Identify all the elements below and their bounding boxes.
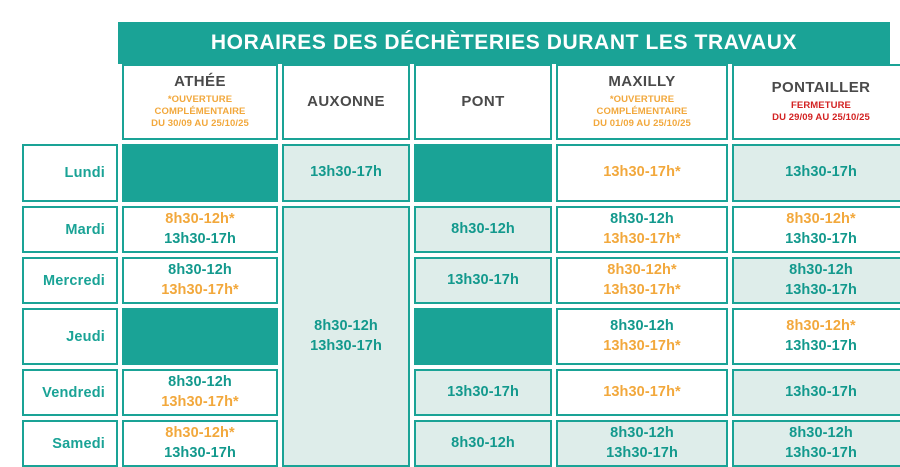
cell-hours: 8h30-12h13h30-17h — [785, 424, 857, 462]
day-label: Mercredi — [43, 273, 105, 289]
note-line: FERMETURE — [772, 100, 870, 112]
hours-line: 13h30-17h — [785, 163, 857, 182]
cell-hours: 8h30-12h*13h30-17h — [785, 210, 857, 248]
cell-pont-mercredi: 13h30-17h — [414, 257, 552, 304]
cell-pontailler-samedi: 8h30-12h13h30-17h — [732, 420, 900, 467]
column-header-name: PONTAILLER — [772, 79, 871, 98]
hours-line: 8h30-12h* — [786, 317, 855, 336]
day-label-cell-mardi: Mardi — [22, 206, 118, 253]
column-header-auxonne: AUXONNE — [282, 64, 410, 140]
note-line: COMPLÉMENTAIRE — [593, 106, 691, 118]
hours-line: 8h30-12h — [789, 261, 853, 280]
hours-line: 13h30-17h* — [161, 281, 239, 300]
hours-line: 13h30-17h — [447, 271, 519, 290]
page-title: HORAIRES DES DÉCHÈTERIES DURANT LES TRAV… — [211, 31, 797, 55]
column-header-athee: ATHÉE*OUVERTURECOMPLÉMENTAIREDU 30/09 AU… — [122, 64, 278, 140]
hours-line: 13h30-17h* — [161, 393, 239, 412]
hours-line: 13h30-17h* — [603, 281, 681, 300]
day-label-cell-samedi: Samedi — [22, 420, 118, 467]
day-label: Jeudi — [66, 329, 105, 345]
note-line: DU 30/09 AU 25/10/25 — [151, 118, 249, 130]
hours-line: 13h30-17h* — [603, 230, 681, 249]
hours-line: 8h30-12h — [610, 317, 674, 336]
cell-hours: 8h30-12h — [451, 434, 515, 453]
cell-hours: 8h30-12h13h30-17h — [606, 424, 678, 462]
hours-line: 8h30-12h* — [165, 424, 234, 443]
note-line: DU 29/09 AU 25/10/25 — [772, 112, 870, 124]
cell-hours: 13h30-17h — [310, 163, 382, 182]
day-label-cell-lundi: Lundi — [22, 144, 118, 202]
hours-line: 13h30-17h — [164, 444, 236, 463]
cell-hours: 13h30-17h — [785, 383, 857, 402]
cell-hours: 13h30-17h — [447, 271, 519, 290]
hours-line: 13h30-17h — [310, 163, 382, 182]
cell-hours: 13h30-17h* — [603, 163, 681, 182]
cell-hours: 8h30-12h*13h30-17h — [785, 317, 857, 355]
column-header-note: FERMETUREDU 29/09 AU 25/10/25 — [772, 100, 870, 124]
hours-line: 13h30-17h* — [603, 163, 681, 182]
cell-maxilly-vendredi: 13h30-17h* — [556, 369, 728, 416]
cell-pontailler-lundi: 13h30-17h — [732, 144, 900, 202]
column-header-name: ATHÉE — [174, 73, 226, 92]
note-line: COMPLÉMENTAIRE — [151, 106, 249, 118]
cell-pontailler-vendredi: 13h30-17h — [732, 369, 900, 416]
table-corner-blank — [22, 64, 118, 140]
cell-pont-mardi: 8h30-12h — [414, 206, 552, 253]
column-header-name: PONT — [461, 93, 504, 112]
column-header-name: MAXILLY — [608, 73, 675, 92]
cell-athee-vendredi: 8h30-12h13h30-17h* — [122, 369, 278, 416]
cell-athee-lundi — [122, 144, 278, 202]
cell-maxilly-lundi: 13h30-17h* — [556, 144, 728, 202]
hours-line: 13h30-17h* — [603, 337, 681, 356]
hours-line: 13h30-17h — [785, 383, 857, 402]
hours-line: 13h30-17h — [606, 444, 678, 463]
note-line: *OUVERTURE — [151, 94, 249, 106]
day-label: Lundi — [65, 165, 105, 181]
note-line: *OUVERTURE — [593, 94, 691, 106]
cell-hours: 13h30-17h — [447, 383, 519, 402]
cell-hours: 8h30-12h13h30-17h* — [603, 317, 681, 355]
hours-line: 13h30-17h — [785, 281, 857, 300]
cell-maxilly-jeudi: 8h30-12h13h30-17h* — [556, 308, 728, 365]
hours-line: 8h30-12h* — [786, 210, 855, 229]
day-label-cell-jeudi: Jeudi — [22, 308, 118, 365]
cell-hours: 8h30-12h13h30-17h* — [161, 261, 239, 299]
cell-athee-mercredi: 8h30-12h13h30-17h* — [122, 257, 278, 304]
cell-hours: 8h30-12h*13h30-17h — [164, 210, 236, 248]
hours-line: 8h30-12h* — [607, 261, 676, 280]
cell-hours: 8h30-12h*13h30-17h — [164, 424, 236, 462]
hours-line: 8h30-12h — [168, 261, 232, 280]
hours-line: 13h30-17h — [310, 337, 382, 356]
cell-maxilly-samedi: 8h30-12h13h30-17h — [556, 420, 728, 467]
cell-hours: 8h30-12h — [451, 220, 515, 239]
cell-pont-samedi: 8h30-12h — [414, 420, 552, 467]
cell-athee-jeudi — [122, 308, 278, 365]
schedule-poster: HORAIRES DES DÉCHÈTERIES DURANT LES TRAV… — [0, 0, 900, 443]
hours-line: 13h30-17h — [164, 230, 236, 249]
day-label-cell-vendredi: Vendredi — [22, 369, 118, 416]
cell-maxilly-mercredi: 8h30-12h*13h30-17h* — [556, 257, 728, 304]
column-header-maxilly: MAXILLY*OUVERTURECOMPLÉMENTAIREDU 01/09 … — [556, 64, 728, 140]
cell-pontailler-mercredi: 8h30-12h13h30-17h — [732, 257, 900, 304]
cell-pontailler-mardi: 8h30-12h*13h30-17h — [732, 206, 900, 253]
cell-hours: 13h30-17h* — [603, 383, 681, 402]
cell-auxonne-mardi-samedi-merged: 8h30-12h13h30-17h — [282, 206, 410, 467]
day-label: Mardi — [65, 222, 105, 238]
hours-line: 8h30-12h — [451, 434, 515, 453]
cell-athee-mardi: 8h30-12h*13h30-17h — [122, 206, 278, 253]
cell-pontailler-jeudi: 8h30-12h*13h30-17h — [732, 308, 900, 365]
cell-pont-jeudi — [414, 308, 552, 365]
cell-pont-vendredi: 13h30-17h — [414, 369, 552, 416]
hours-line: 8h30-12h — [610, 424, 674, 443]
hours-line: 8h30-12h — [610, 210, 674, 229]
hours-line: 8h30-12h — [314, 317, 378, 336]
hours-line: 8h30-12h — [789, 424, 853, 443]
column-header-name: AUXONNE — [307, 93, 385, 112]
hours-line: 13h30-17h — [447, 383, 519, 402]
cell-hours: 8h30-12h*13h30-17h* — [603, 261, 681, 299]
note-line: DU 01/09 AU 25/10/25 — [593, 118, 691, 130]
hours-line: 13h30-17h — [785, 230, 857, 249]
hours-line: 13h30-17h — [785, 337, 857, 356]
hours-line: 13h30-17h* — [603, 383, 681, 402]
day-label: Samedi — [52, 436, 105, 452]
cell-hours: 8h30-12h13h30-17h* — [603, 210, 681, 248]
cell-hours: 8h30-12h13h30-17h — [310, 317, 382, 355]
column-header-pontailler: PONTAILLERFERMETUREDU 29/09 AU 25/10/25 — [732, 64, 900, 140]
column-header-note: *OUVERTURECOMPLÉMENTAIREDU 30/09 AU 25/1… — [151, 94, 249, 130]
hours-line: 8h30-12h — [168, 373, 232, 392]
hours-line: 13h30-17h — [785, 444, 857, 463]
hours-line: 8h30-12h* — [165, 210, 234, 229]
column-header-note: *OUVERTURECOMPLÉMENTAIREDU 01/09 AU 25/1… — [593, 94, 691, 130]
day-label: Vendredi — [42, 385, 105, 401]
cell-maxilly-mardi: 8h30-12h13h30-17h* — [556, 206, 728, 253]
cell-hours: 8h30-12h13h30-17h* — [161, 373, 239, 411]
cell-athee-samedi: 8h30-12h*13h30-17h — [122, 420, 278, 467]
hours-line: 8h30-12h — [451, 220, 515, 239]
cell-hours: 13h30-17h — [785, 163, 857, 182]
schedule-table: ATHÉE*OUVERTURECOMPLÉMENTAIREDU 30/09 AU… — [22, 64, 890, 467]
column-header-pont: PONT — [414, 64, 552, 140]
cell-hours: 8h30-12h13h30-17h — [785, 261, 857, 299]
cell-pont-lundi — [414, 144, 552, 202]
poster-title-banner: HORAIRES DES DÉCHÈTERIES DURANT LES TRAV… — [118, 22, 890, 64]
day-label-cell-mercredi: Mercredi — [22, 257, 118, 304]
cell-auxonne-lundi: 13h30-17h — [282, 144, 410, 202]
